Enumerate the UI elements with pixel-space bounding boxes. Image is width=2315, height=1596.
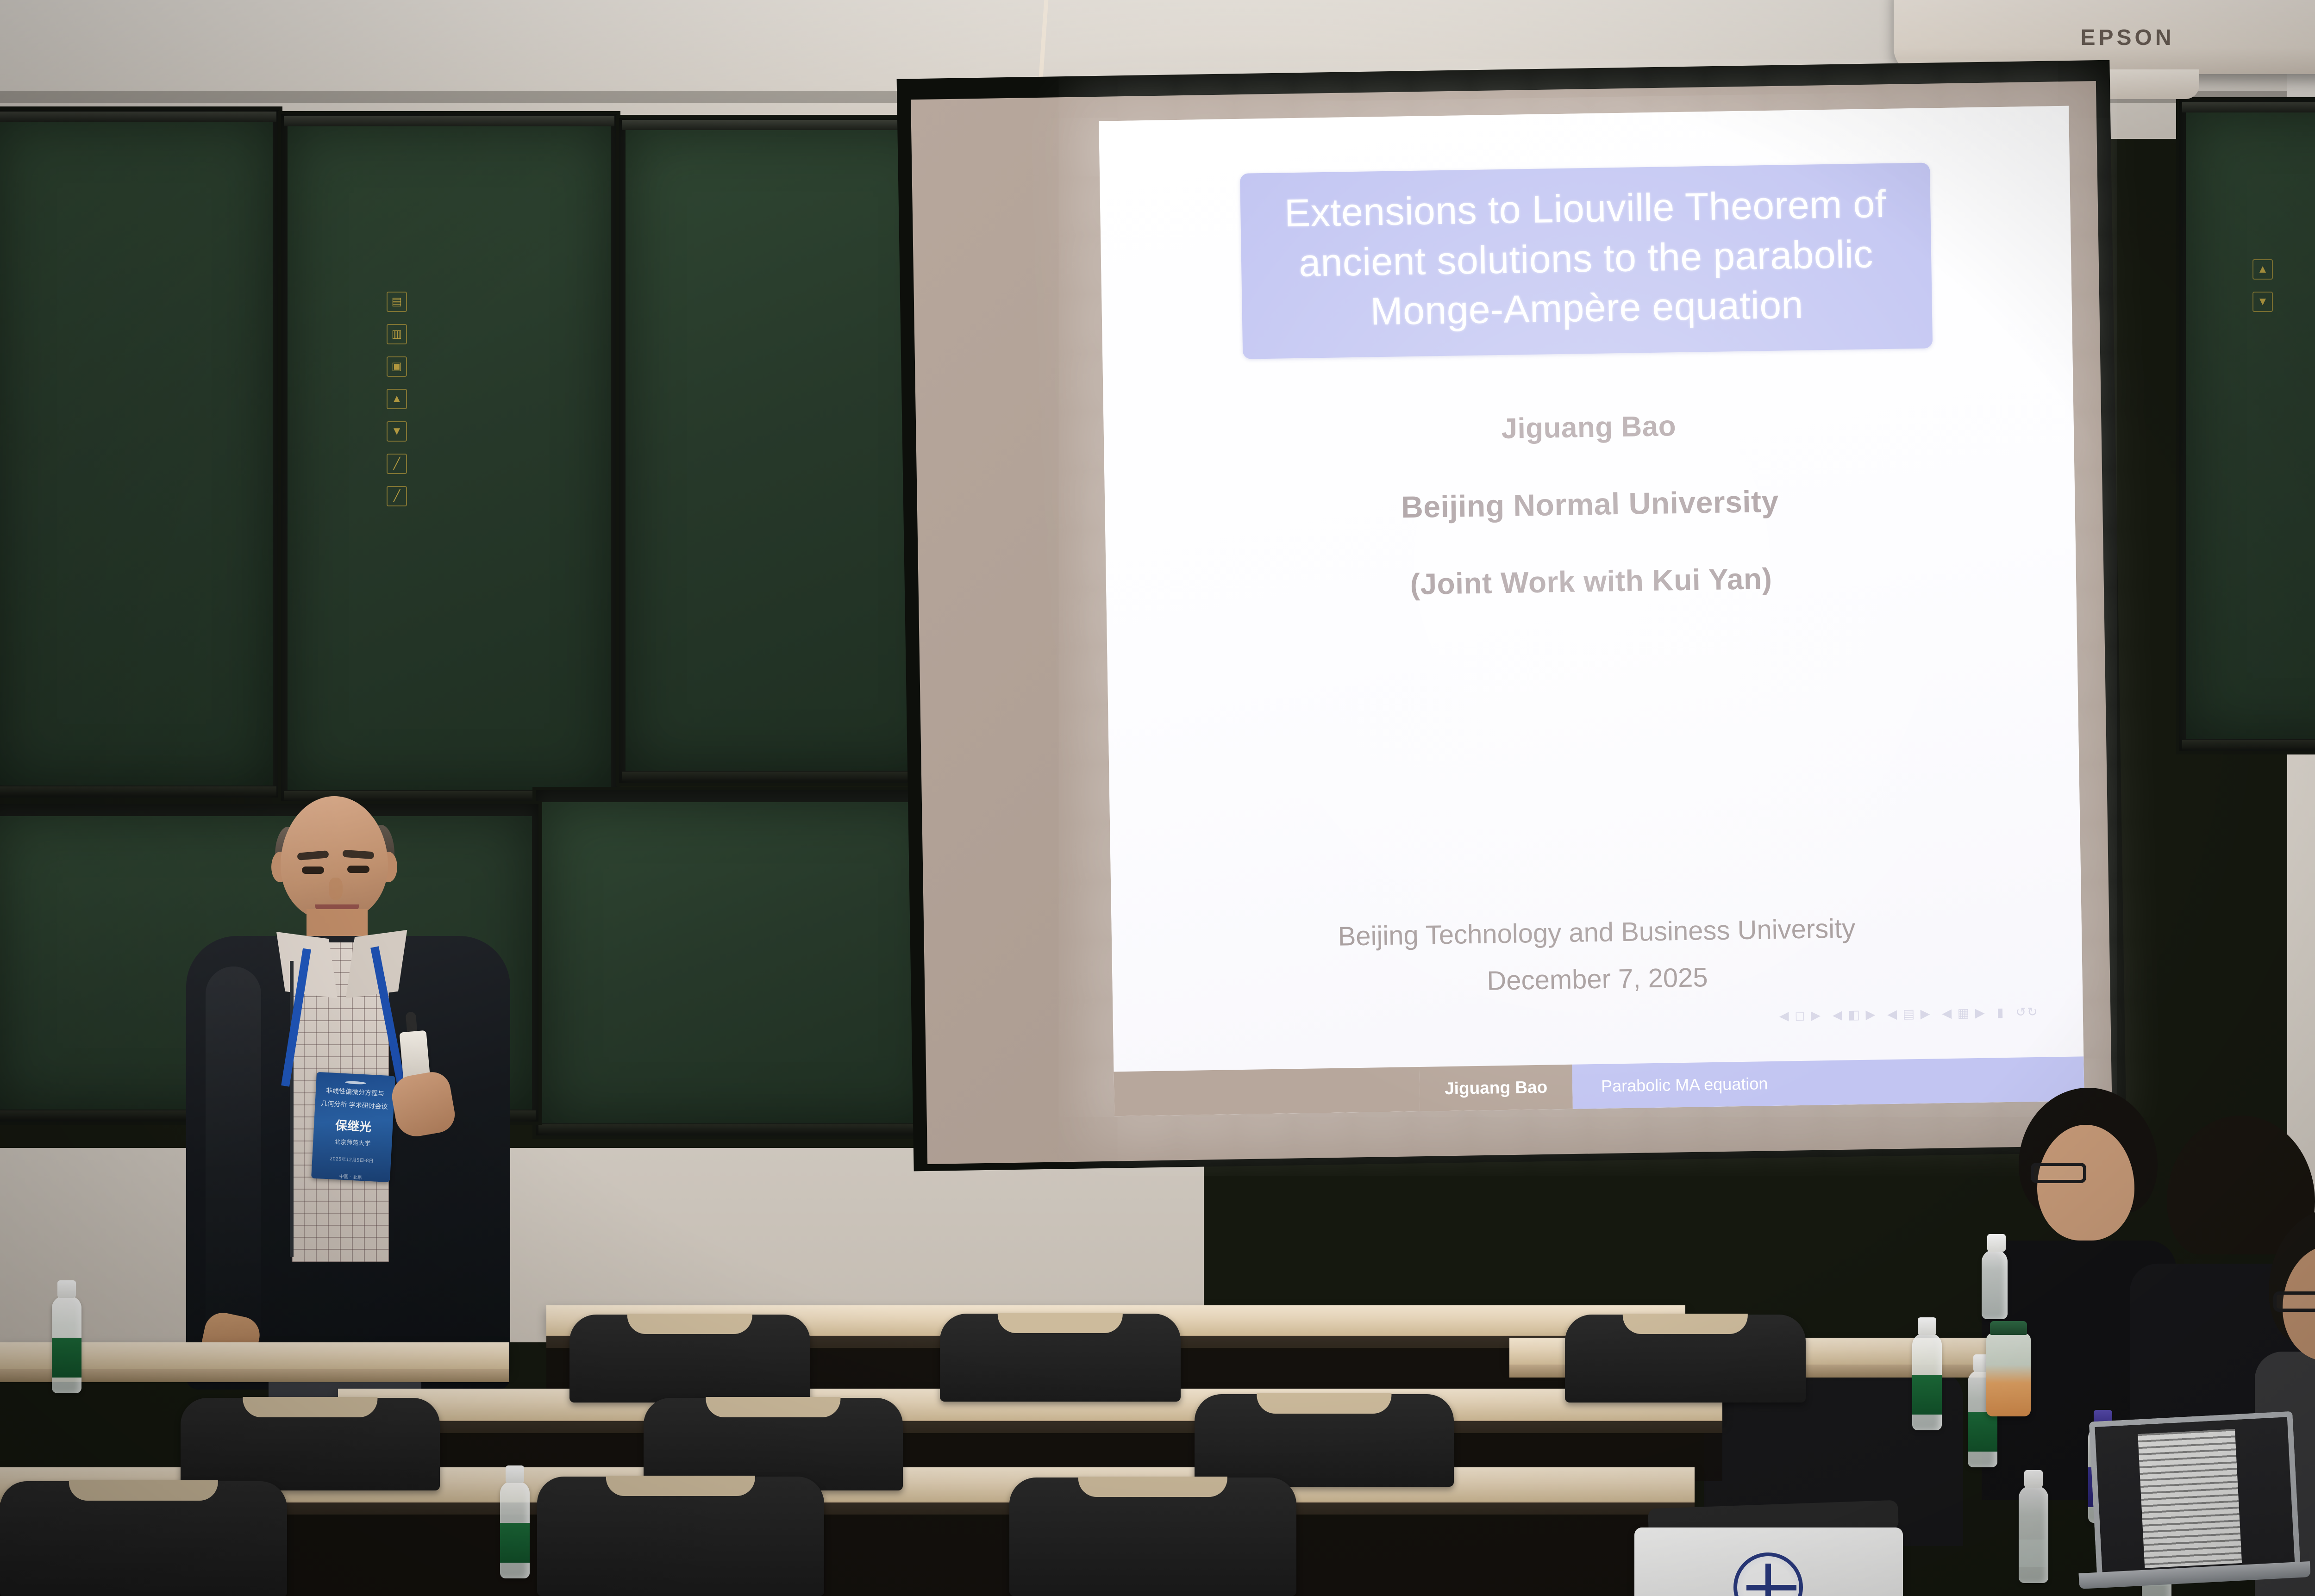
blackboard-surface [626, 130, 939, 771]
bottle-label [52, 1338, 81, 1378]
bottle-cap [2024, 1470, 2043, 1488]
eyeglasses-icon [2031, 1163, 2086, 1183]
blackboard-control-strip-right[interactable]: ▲ ▼ [2250, 259, 2275, 312]
badge-date-line: 2025年12月5日-8日 [330, 1155, 374, 1165]
badge-university-logo-icon [345, 1081, 366, 1085]
beamer-navigation-symbols[interactable]: ◀ ◻ ▶ ◀ ◧ ▶ ◀ ▤ ▶ ◀ ▦ ▶ ▮ ↺↻ [1779, 1005, 2039, 1023]
board-up-icon[interactable]: ▲ [2252, 259, 2273, 280]
bottle-cap [1987, 1234, 2006, 1252]
badge-attendee-name: 保继光 [335, 1116, 372, 1135]
slide-title-line-2: ancient solutions to the parabolic [1259, 229, 1913, 289]
chair-back-3[interactable] [1565, 1315, 1806, 1403]
bottle-label [2019, 1540, 2048, 1567]
bottle-label [500, 1523, 530, 1563]
presenter-nose [329, 878, 343, 900]
blackboard-rail-bottom [2182, 740, 2315, 749]
blackboard-rail-top [0, 112, 276, 122]
blackboard-panel-lower-center [532, 787, 949, 1139]
blackboard-surface [2186, 112, 2315, 739]
slide-date: December 7, 2025 [1112, 956, 2083, 1002]
blackboard-panel-left-center [278, 111, 620, 805]
badge-conference-title-1: 非线性偏微分方程与 [322, 1086, 388, 1099]
slide-joint-work: (Joint Work with Kui Yan) [1106, 556, 2077, 606]
footer-left-pad [1114, 1067, 1420, 1116]
slide-title-line-3: Monge-Ampère equation [1260, 278, 1914, 338]
board-down-icon[interactable]: ▼ [387, 421, 407, 442]
chair-front-3[interactable] [1009, 1478, 1296, 1596]
conference-tote-bag[interactable] [1634, 1527, 1903, 1596]
water-bottle-clear[interactable] [2019, 1486, 2048, 1583]
presentation-slide: Extensions to Liouville Theorem of ancie… [1099, 106, 2084, 1116]
bottle-label [1912, 1375, 1942, 1415]
blackboard-panel-left [0, 106, 282, 801]
blackboard-rail-top [284, 116, 614, 126]
nav-doc-icon[interactable]: ▮ [1996, 1005, 2004, 1020]
badge-conference-title-2: 几何分析 学术研讨会议 [317, 1099, 392, 1112]
bottle-cap [57, 1280, 76, 1298]
laptop-document-page [2138, 1429, 2242, 1568]
blackboard-rail-top [2182, 102, 2315, 112]
blackboard-surface [288, 126, 611, 790]
chair-front-1[interactable] [0, 1481, 287, 1596]
board-marker-red-icon[interactable]: ╱ [387, 454, 407, 474]
blackboard-rail-bottom [622, 772, 943, 781]
water-bottle[interactable] [52, 1296, 81, 1393]
chair-back-1[interactable] [569, 1315, 810, 1403]
nav-section-icon[interactable]: ◀ ▦ ▶ [1942, 1006, 1986, 1021]
blackboard-surface [0, 122, 273, 786]
laptop-screen[interactable] [2089, 1411, 2301, 1575]
slide-title-box: Extensions to Liouville Theorem of ancie… [1240, 162, 1933, 359]
university-emblem-icon [1733, 1552, 1803, 1596]
bottle-cap [1918, 1317, 1936, 1335]
presenter-eye-left [302, 867, 324, 874]
blackboard-rail-top [622, 120, 943, 130]
slide-venue-block: Beijing Technology and Business Universi… [1112, 909, 2083, 1002]
chair-back-2[interactable] [940, 1314, 1181, 1402]
presenter-eye-right [347, 866, 369, 873]
bottle-cap [506, 1465, 524, 1483]
nav-slide-icon[interactable]: ◀ ◻ ▶ [1779, 1008, 1822, 1023]
board-marker-blue-icon[interactable]: ╱ [387, 486, 407, 506]
badge-attendee-organization: 北京师范大学 [334, 1137, 371, 1147]
nav-back-forward-icon[interactable]: ↺↻ [2015, 1005, 2039, 1020]
board-down-icon[interactable]: ▼ [2252, 292, 2273, 312]
blackboard-rail-bottom [0, 786, 276, 796]
board-screen-icon[interactable]: ▣ [387, 356, 407, 377]
slide-author-name: Jiguang Bao [1103, 403, 2074, 451]
eyeglasses-icon [2273, 1291, 2315, 1312]
bottle-label [1968, 1412, 1997, 1452]
board-lift-icon[interactable]: ▤ [387, 292, 407, 312]
chair-front-2[interactable] [537, 1477, 824, 1596]
nav-subsection-icon[interactable]: ◀ ▤ ▶ [1887, 1007, 1931, 1022]
slide-author-block: Jiguang Bao Beijing Normal University (J… [1103, 403, 2076, 606]
presenter-jacket-zipper [290, 961, 294, 1257]
chair-middle-3[interactable] [1195, 1394, 1454, 1487]
nav-frame-icon[interactable]: ◀ ◧ ▶ [1833, 1007, 1877, 1022]
blackboard-rail-bottom [538, 1124, 943, 1134]
slide-venue: Beijing Technology and Business Universi… [1112, 909, 2082, 955]
presenter-conference-badge: 非线性偏微分方程与 几何分析 学术研讨会议 保继光 北京师范大学 2025年12… [311, 1072, 395, 1183]
blackboard-panel-right [2176, 97, 2315, 754]
lecture-hall-photo: ▤ ▥ ▣ ▲ ▼ ╱ ╱ ▲ ▼ EPSON Extensions to Li… [0, 0, 2315, 1596]
water-bottle[interactable] [1982, 1250, 2008, 1319]
footer-section-label: Parabolic MA equation [1572, 1056, 2084, 1109]
thermos-flask[interactable] [1986, 1333, 2031, 1416]
blackboard-surface [542, 802, 939, 1123]
board-up-icon[interactable]: ▲ [387, 389, 407, 409]
projected-slide-area: Extensions to Liouville Theorem of ancie… [1099, 106, 2084, 1116]
thermos-lid [1990, 1321, 2027, 1335]
water-bottle[interactable] [1912, 1333, 1942, 1430]
projector-brand-label: EPSON [2080, 25, 2174, 50]
footer-author-label: Jiguang Bao [1419, 1065, 1572, 1111]
blackboard-control-strip-left[interactable]: ▤ ▥ ▣ ▲ ▼ ╱ ╱ [384, 292, 409, 506]
presenter: 非线性偏微分方程与 几何分析 学术研讨会议 保继光 北京师范大学 2025年12… [176, 796, 546, 1389]
water-bottle[interactable] [500, 1481, 530, 1578]
slide-title-line-1: Extensions to Liouville Theorem of [1258, 179, 1912, 239]
board-panel-icon[interactable]: ▥ [387, 324, 407, 344]
slide-affiliation: Beijing Normal University [1105, 479, 2075, 529]
chair-middle-1[interactable] [181, 1398, 440, 1490]
